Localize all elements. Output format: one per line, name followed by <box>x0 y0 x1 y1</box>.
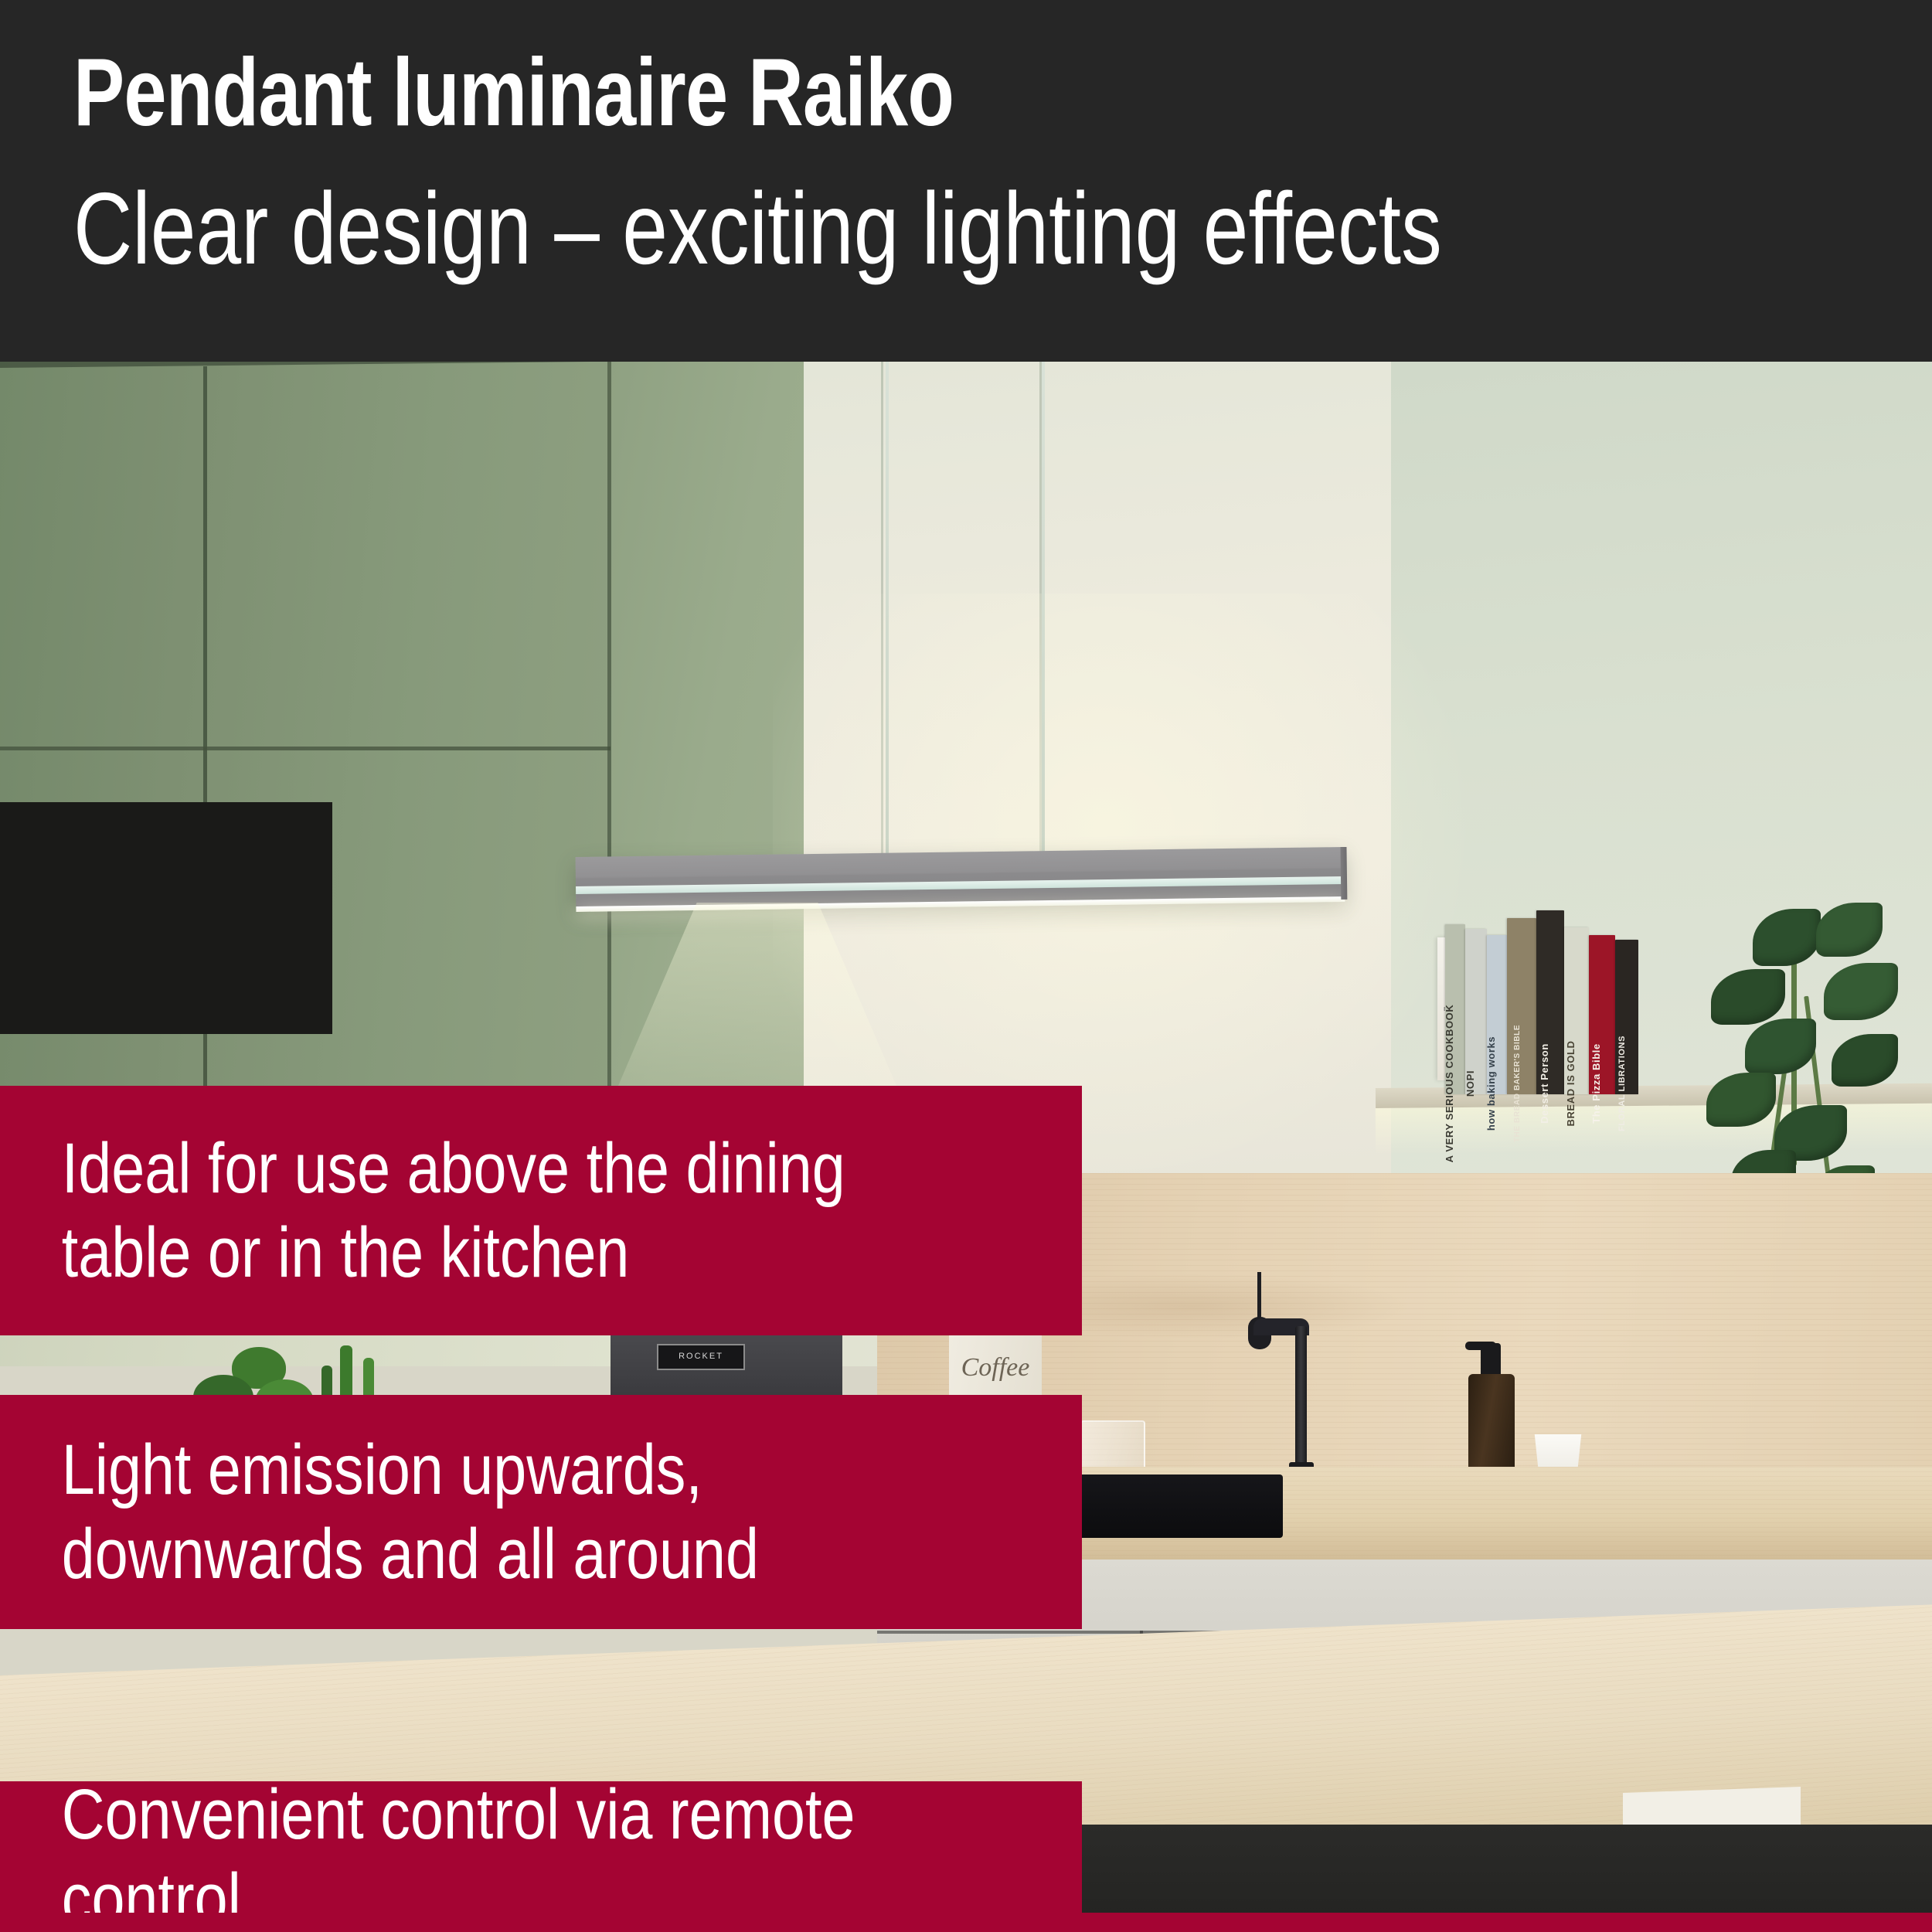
plant-leaf <box>1711 969 1785 1025</box>
cabinet-edge-right <box>607 362 611 1196</box>
page-title: Pendant luminaire Raiko <box>73 45 954 141</box>
book-spine-label: Dessert Person <box>1539 1043 1550 1124</box>
espresso-machine-badge: ROCKET <box>657 1344 745 1370</box>
dark-room-left <box>0 802 332 1034</box>
book-spine: BREAD IS GOLD <box>1564 927 1589 1094</box>
soap-dispenser-pump <box>1481 1343 1501 1377</box>
product-poster: BREW BETTER COFFEE AT HOME A VERY SERIOU… <box>0 0 1932 1932</box>
plant-leaf <box>1706 1073 1776 1127</box>
faucet-column <box>1295 1326 1307 1481</box>
plant-leaf <box>1832 1034 1898 1087</box>
feature-callout-1: Ideal for use above the dining table or … <box>0 1086 1082 1335</box>
book-spine: The Pizza Bible <box>1589 935 1615 1094</box>
coffee-canister-label: Coffee <box>949 1353 1042 1383</box>
book-spine-label: FLORAL LIBRATIONS <box>1617 1036 1627 1131</box>
page-subtitle: Clear design – exciting lighting effects <box>73 178 1442 280</box>
suspension-wire-left <box>886 362 889 862</box>
book-spine-label: The Pizza Bible <box>1590 1043 1602 1124</box>
feature-callout-2-text: Light emission upwards, downwards and al… <box>0 1428 909 1596</box>
book-spine: THE BREAD BAKER'S BIBLE <box>1507 918 1536 1094</box>
book-spine-label: NOPI <box>1464 1070 1476 1097</box>
bottom-accent-bar <box>0 1913 1932 1932</box>
book-spine: NOPI <box>1465 929 1487 1094</box>
pendant-luminaire-raiko <box>576 847 1345 910</box>
luminaire-end-cap <box>1340 847 1347 900</box>
espresso-brand-label: ROCKET <box>658 1345 743 1367</box>
feature-callout-1-text: Ideal for use above the dining table or … <box>0 1127 909 1294</box>
cabinet-seam-vertical <box>203 366 207 1196</box>
feature-callout-2: Light emission upwards, downwards and al… <box>0 1395 1082 1629</box>
book-spine-label: A VERY SERIOUS COOKBOOK <box>1444 1005 1455 1163</box>
feature-callout-3-text: Convenient control via remote control <box>0 1773 909 1932</box>
plant-leaf <box>1824 963 1898 1020</box>
book-spine-label: how baking works <box>1485 1036 1497 1131</box>
book-spine: Dessert Person <box>1536 910 1564 1094</box>
cabinet-seam-horizontal <box>0 747 611 750</box>
book-spine: A VERY SERIOUS COOKBOOK <box>1445 924 1465 1094</box>
book-spine-label: BREAD IS GOLD <box>1565 1040 1577 1126</box>
faucet-handle <box>1257 1272 1261 1320</box>
cabinet-top-edge <box>0 362 611 368</box>
book-spine-label: THE BREAD BAKER'S BIBLE <box>1513 1025 1522 1142</box>
book-spine: FLORAL LIBRATIONS <box>1615 940 1638 1094</box>
feature-callout-3: Convenient control via remote control <box>0 1781 1082 1932</box>
suspension-wire-right <box>1042 362 1045 856</box>
book-spine: how baking works <box>1487 935 1507 1094</box>
plant-leaf <box>1816 903 1883 957</box>
plant-leaf <box>1753 909 1821 966</box>
sage-cabinets-left <box>0 362 611 1196</box>
plant-leaf <box>1745 1019 1816 1074</box>
header-band: Pendant luminaire Raiko Clear design – e… <box>0 0 1932 362</box>
